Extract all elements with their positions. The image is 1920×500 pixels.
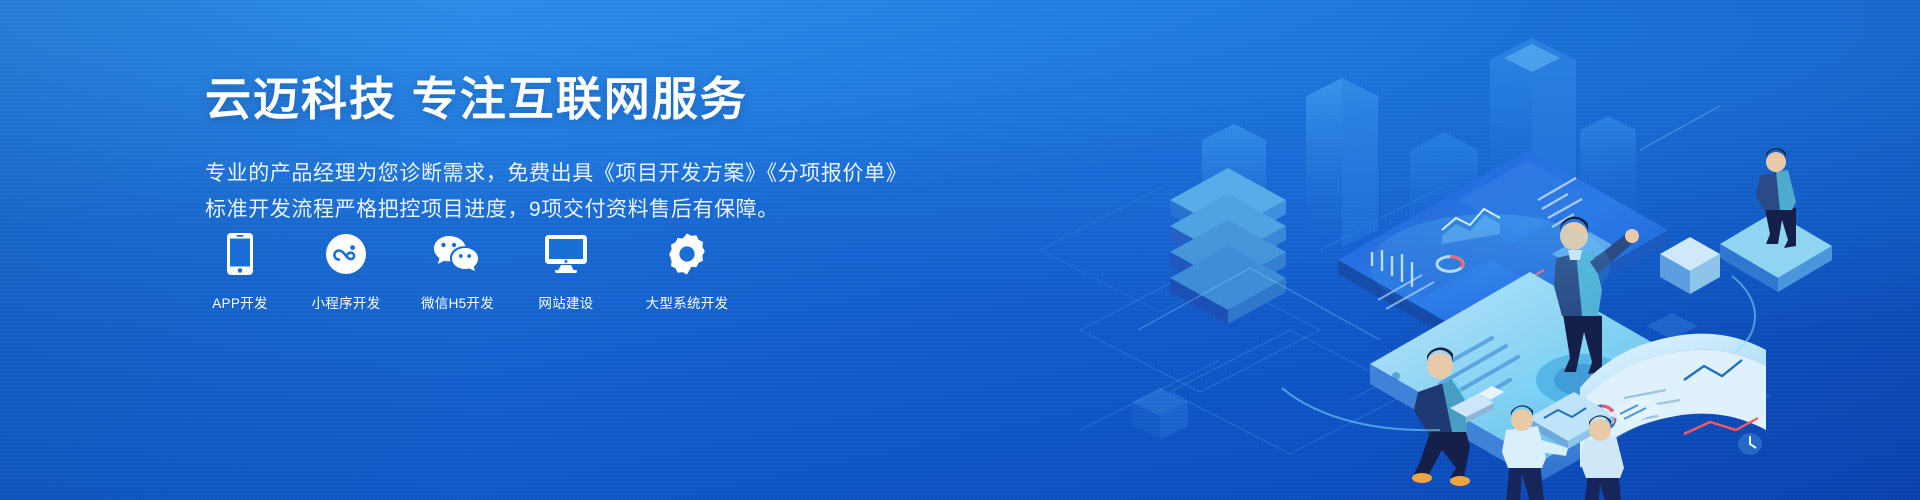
service-item-large-system[interactable]: 大型系统开发 <box>641 232 733 312</box>
monitor-icon <box>531 232 601 276</box>
service-list: APP开发 小程序开发 <box>205 232 733 312</box>
subtitle-line-1: 专业的产品经理为您诊断需求，免费出具《项目开发方案》《分项报价单》 <box>205 156 925 192</box>
service-item-wechat-h5[interactable]: 微信H5开发 <box>421 232 491 312</box>
wechat-icon <box>421 232 491 276</box>
service-item-mini-program[interactable]: 小程序开发 <box>311 232 381 312</box>
mobile-phone-icon <box>205 232 275 276</box>
gear-icon <box>641 232 733 276</box>
hero-copy: 云迈科技 专注互联网服务 专业的产品经理为您诊断需求，免费出具《项目开发方案》《… <box>205 72 925 228</box>
service-item-website[interactable]: 网站建设 <box>531 232 601 312</box>
hero-subtitle: 专业的产品经理为您诊断需求，免费出具《项目开发方案》《分项报价单》 标准开发流程… <box>205 126 925 228</box>
mini-program-icon <box>311 232 381 276</box>
page-title: 云迈科技 专注互联网服务 <box>205 72 925 126</box>
service-label: 网站建设 <box>531 292 601 312</box>
subtitle-line-2: 标准开发流程严格把控项目进度，9项交付资料售后有保障。 <box>205 192 925 228</box>
service-item-app[interactable]: APP开发 <box>205 232 275 312</box>
service-label: 微信H5开发 <box>421 292 491 312</box>
service-label: APP开发 <box>205 292 275 312</box>
hero-banner: 云迈科技 专注互联网服务 专业的产品经理为您诊断需求，免费出具《项目开发方案》《… <box>0 0 1920 500</box>
isometric-illustration <box>1020 0 1920 500</box>
service-label: 小程序开发 <box>311 292 381 312</box>
service-label: 大型系统开发 <box>641 292 733 312</box>
